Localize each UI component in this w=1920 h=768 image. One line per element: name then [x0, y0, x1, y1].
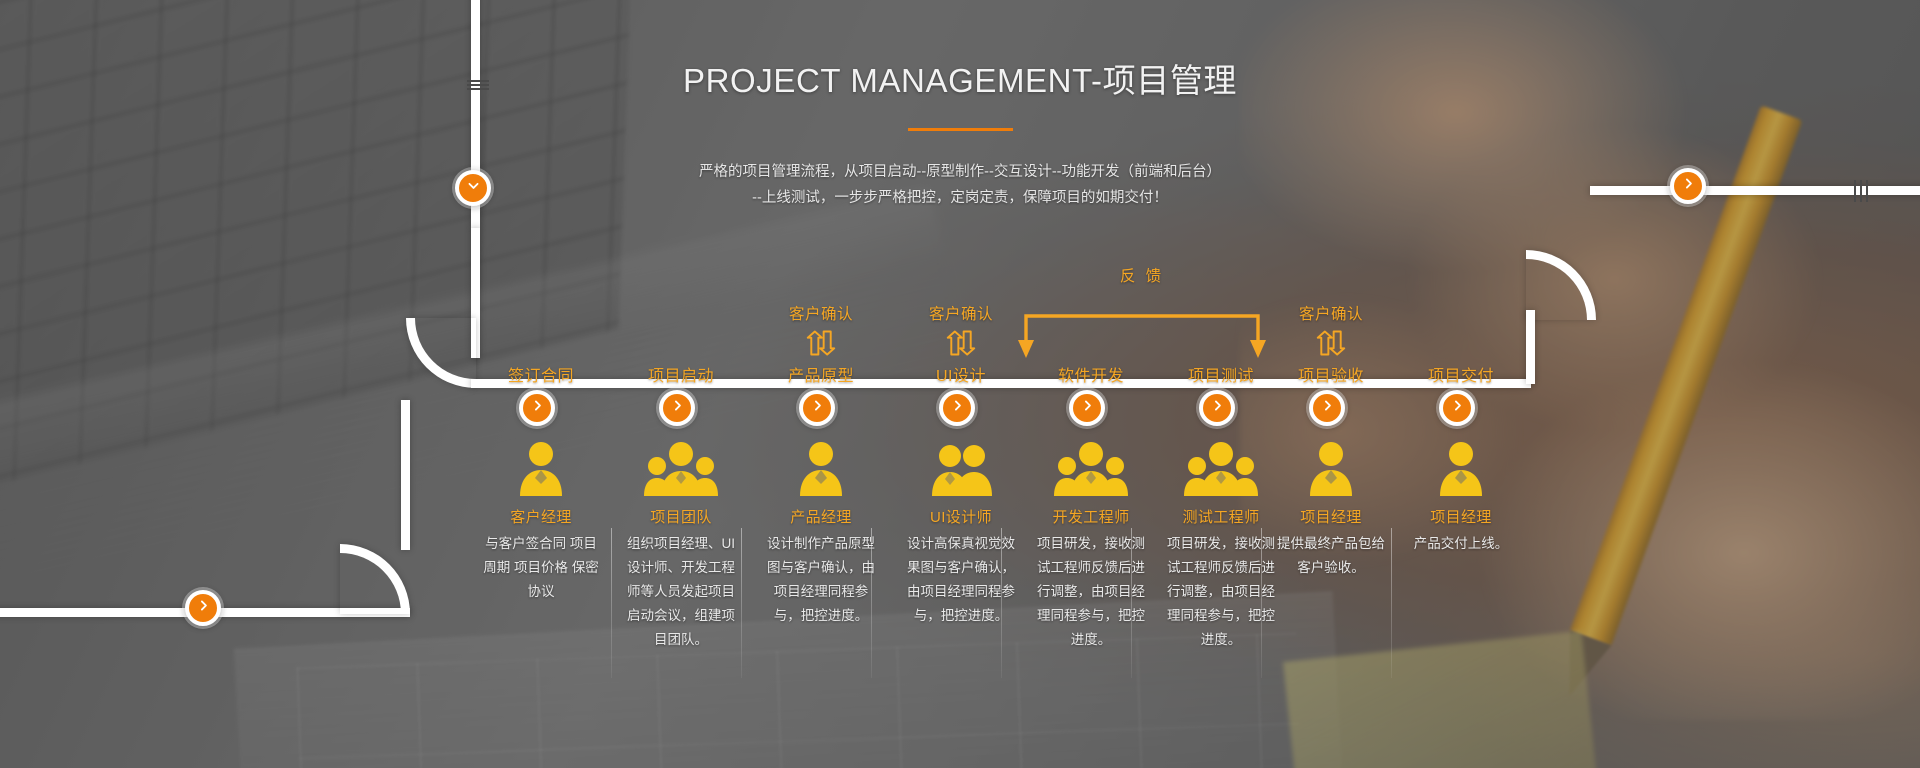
page-subtitle: 严格的项目管理流程，从项目启动--原型制作--交互设计--功能开发（前端和后台）…: [0, 159, 1920, 211]
step-above-1: 签订合同: [471, 264, 611, 390]
chevron-right-icon: [811, 399, 824, 417]
project-timeline: 反 馈 签订合同 客户经理 与客户签合同 项目周期 项目价格 保密协议: [0, 264, 1920, 724]
step-node-7[interactable]: [1309, 390, 1345, 426]
step-node-3[interactable]: [799, 390, 835, 426]
step-role-2: 项目团队: [611, 436, 751, 527]
confirm-label-3: 客户确认: [751, 302, 891, 324]
step-role-8: 项目经理: [1391, 436, 1531, 527]
column-separator: [871, 528, 872, 678]
step-name-5: 软件开发: [1021, 362, 1161, 386]
up-down-arrow-icon: [751, 330, 891, 356]
up-down-arrow-icon: [891, 330, 1031, 356]
step-above-3: 客户确认 产品原型: [751, 264, 891, 390]
step-role-7: 项目经理: [1261, 436, 1401, 527]
step-node-5[interactable]: [1069, 390, 1105, 426]
step-desc-1: 与客户签合同 项目周期 项目价格 保密协议: [483, 532, 599, 604]
step-name-8: 项目交付: [1391, 362, 1531, 386]
step-role-5: 开发工程师: [1021, 436, 1161, 527]
timeline-step-7[interactable]: 客户确认 项目验收 项目经理 提供最终产品包给客户验收。: [1261, 264, 1401, 390]
two-people-icon: [891, 436, 1031, 496]
subtitle-line-2: --上线测试，一步步严格把控，定岗定责，保障项目的如期交付！: [0, 185, 1920, 211]
step-node-6[interactable]: [1199, 390, 1235, 426]
single-person-icon: [471, 436, 611, 496]
step-desc-3: 设计制作产品原型图与客户确认，由项目经理同程参与，把控进度。: [763, 532, 879, 628]
chevron-right-icon: [951, 399, 964, 417]
timeline-step-2[interactable]: 项目启动 项目团队 组织项目经理、UI设计师、开发工程师等人员发起项目启动会议，…: [611, 264, 751, 390]
chevron-right-icon: [1321, 399, 1334, 417]
column-separator: [1261, 528, 1262, 678]
step-name-2: 项目启动: [611, 362, 751, 386]
chevron-right-icon: [1081, 399, 1094, 417]
column-separator: [1391, 528, 1392, 678]
group-people-icon: [611, 436, 751, 496]
step-name-7: 项目验收: [1261, 362, 1401, 386]
step-role-3: 产品经理: [751, 436, 891, 527]
chevron-right-icon: [1211, 399, 1224, 417]
step-above-7: 客户确认 项目验收: [1261, 264, 1401, 390]
timeline-step-8[interactable]: 项目交付 项目经理 产品交付上线。: [1391, 264, 1531, 390]
subtitle-line-1: 严格的项目管理流程，从项目启动--原型制作--交互设计--功能开发（前端和后台）: [0, 159, 1920, 185]
step-above-4: 客户确认 UI设计: [891, 264, 1031, 390]
step-desc-2: 组织项目经理、UI设计师、开发工程师等人员发起项目启动会议，组建项目团队。: [623, 532, 739, 652]
step-node-1[interactable]: [519, 390, 555, 426]
step-name-4: UI设计: [891, 362, 1031, 386]
step-desc-8: 产品交付上线。: [1403, 532, 1519, 556]
column-separator: [741, 528, 742, 678]
step-above-2: 项目启动: [611, 264, 751, 390]
role-name-4: UI设计师: [891, 506, 1031, 527]
column-separator: [1001, 528, 1002, 678]
role-name-2: 项目团队: [611, 506, 751, 527]
title-divider: [908, 128, 1013, 131]
role-name-5: 开发工程师: [1021, 506, 1161, 527]
timeline-step-4[interactable]: 客户确认 UI设计 UI设计师 设: [891, 264, 1031, 390]
column-separator: [611, 528, 612, 678]
timeline-step-1[interactable]: 签订合同 客户经理 与客户签合同 项目周期 项目价格 保密协议: [471, 264, 611, 390]
group-people-icon: [1021, 436, 1161, 496]
chevron-right-icon: [531, 399, 544, 417]
timeline-step-3[interactable]: 客户确认 产品原型 产品经理 设计制作产品原型图与客户确认，由项目经理同程参与，…: [751, 264, 891, 390]
single-person-icon: [751, 436, 891, 496]
step-above-5: 软件开发: [1021, 264, 1161, 390]
header: PROJECT MANAGEMENT-项目管理 严格的项目管理流程，从项目启动-…: [0, 54, 1920, 211]
step-name-3: 产品原型: [751, 362, 891, 386]
step-role-4: UI设计师: [891, 436, 1031, 527]
step-node-2[interactable]: [659, 390, 695, 426]
single-person-icon: [1391, 436, 1531, 496]
step-node-4[interactable]: [939, 390, 975, 426]
chevron-right-icon: [1451, 399, 1464, 417]
page-title: PROJECT MANAGEMENT-项目管理: [0, 54, 1920, 102]
step-node-8[interactable]: [1439, 390, 1475, 426]
step-name-1: 签订合同: [471, 362, 611, 386]
role-name-7: 项目经理: [1261, 506, 1401, 527]
role-name-8: 项目经理: [1391, 506, 1531, 527]
confirm-label-7: 客户确认: [1261, 302, 1401, 324]
up-down-arrow-icon: [1261, 330, 1401, 356]
role-name-3: 产品经理: [751, 506, 891, 527]
confirm-label-4: 客户确认: [891, 302, 1031, 324]
column-separator: [1131, 528, 1132, 678]
chevron-right-icon: [671, 399, 684, 417]
step-role-1: 客户经理: [471, 436, 611, 527]
step-above-8: 项目交付: [1391, 264, 1531, 390]
role-name-1: 客户经理: [471, 506, 611, 527]
step-desc-7: 提供最终产品包给客户验收。: [1273, 532, 1389, 580]
single-person-icon: [1261, 436, 1401, 496]
timeline-step-5[interactable]: 软件开发 开发工程师 项目研发，接收测试工程师反馈后进行调整，由项目经理同程参与…: [1021, 264, 1161, 390]
